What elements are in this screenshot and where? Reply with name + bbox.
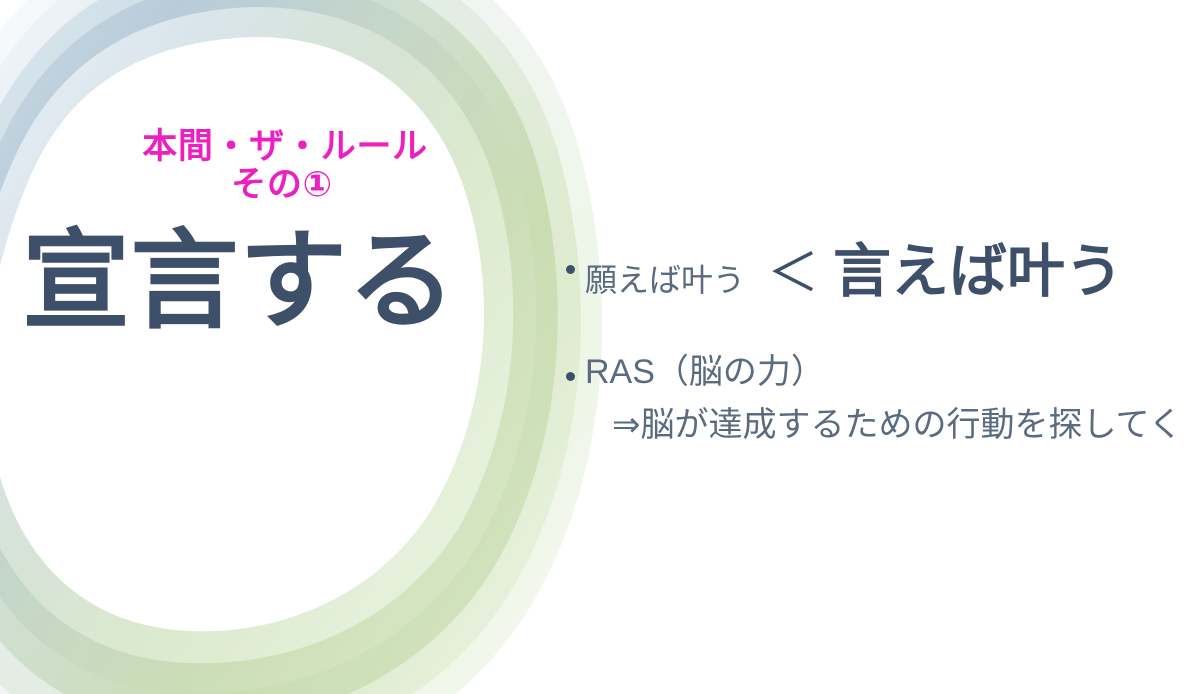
comparison-left-text: 願えば叶う	[585, 264, 745, 296]
bullet-dot-icon	[566, 372, 575, 381]
comparison-right-text: 言えば叶う	[833, 243, 1123, 301]
bullet-dot-icon	[566, 265, 575, 274]
organic-ring-decoration	[0, 0, 620, 694]
kicker-line-1: 本間・ザ・ルール	[0, 128, 560, 165]
less-than-operator: ＜	[767, 248, 819, 300]
ras-statement: RAS（脳の力） ⇒脳が達成するための行動を探してく	[585, 355, 1203, 442]
kicker-heading: 本間・ザ・ルール その①	[0, 128, 560, 203]
kicker-line-2: その①	[0, 166, 560, 203]
ras-label: RAS（脳の力）	[585, 355, 1203, 389]
slide-canvas: 本間・ザ・ルール その① 宣言する 願えば叶う ＜ 言えば叶う RAS（脳の力）…	[0, 0, 1203, 694]
bullet-list: 願えば叶う ＜ 言えば叶う RAS（脳の力） ⇒脳が達成するための行動を探してく	[566, 243, 1203, 442]
list-item: 願えば叶う ＜ 言えば叶う	[566, 243, 1203, 301]
ras-explanation: ⇒脳が達成するための行動を探してく	[585, 408, 1203, 442]
list-item: RAS（脳の力） ⇒脳が達成するための行動を探してく	[566, 355, 1203, 442]
comparison-statement: 願えば叶う ＜ 言えば叶う	[585, 243, 1203, 301]
page-title: 宣言する	[0, 227, 560, 335]
left-text-block: 本間・ザ・ルール その① 宣言する	[0, 128, 560, 335]
